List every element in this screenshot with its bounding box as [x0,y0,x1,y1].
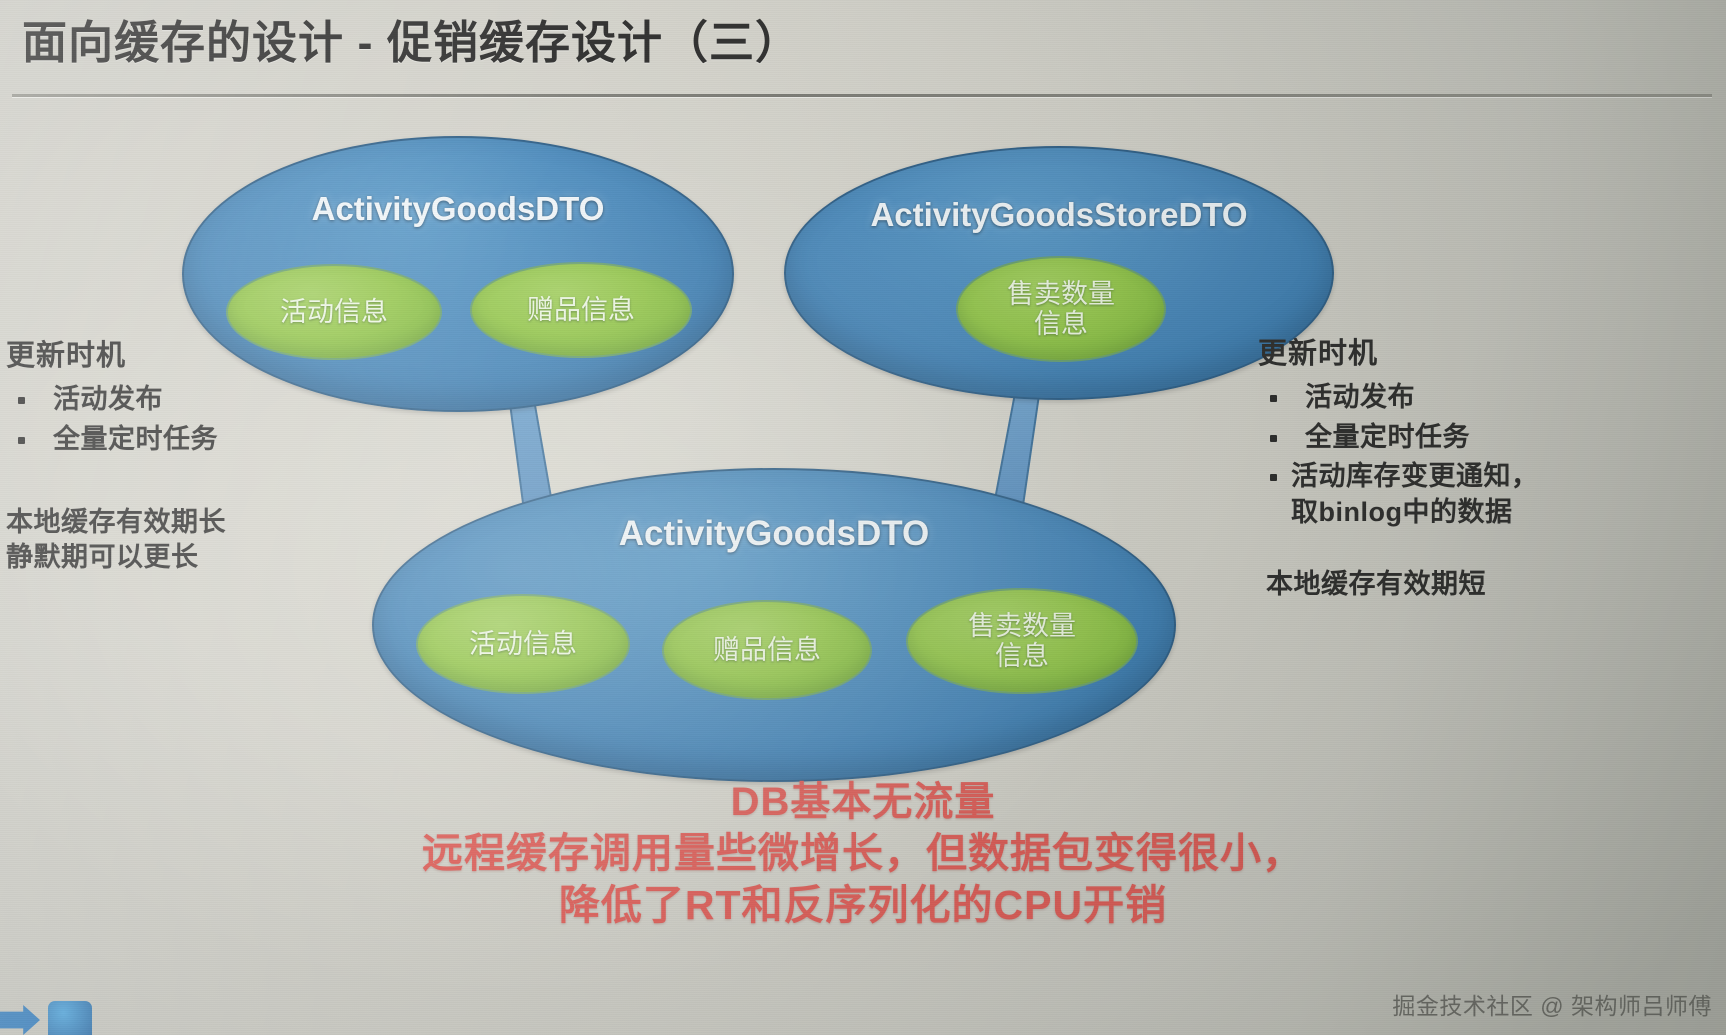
right-note: 本地缓存有效期短 [1266,567,1726,602]
leaf-gift-info[interactable]: 赠品信息 [470,262,692,358]
title-divider [12,94,1712,97]
callout-line-1: DB基本无流量 [0,778,1726,827]
watermark-label: 掘金技术社区 @ 架构师吕师傅 [1392,987,1712,1021]
right-bullet-item: 活动库存变更通知， 取binlog中的数据 [1258,459,1726,530]
corner-logo-fragment [0,991,170,1035]
node-activity-goods-store-dto[interactable]: ActivityGoodsStoreDTO 售卖数量 信息 [784,146,1334,400]
bullet-dot-icon [18,397,25,404]
left-annotation: 更新时机 活动发布 全量定时任务 本地缓存有效期长 静默期可以更长 [6,332,306,575]
bullet-dot-icon [1270,435,1277,442]
arrow-right-icon [0,1005,40,1035]
node-title: ActivityGoodsStoreDTO [786,196,1332,234]
left-annotation-heading: 更新时机 [6,332,306,374]
leaf-sell-quantity-info[interactable]: 售卖数量 信息 [906,588,1138,694]
leaf-activity-info[interactable]: 活动信息 [416,594,630,694]
leaf-gift-info[interactable]: 赠品信息 [662,600,872,700]
left-note: 本地缓存有效期长 [6,505,306,540]
left-note: 静默期可以更长 [6,540,306,575]
right-annotation: 更新时机 活动发布 全量定时任务 活动库存变更通知， 取binlog中的数据 本… [1258,330,1726,602]
right-bullet-item: 活动发布 [1258,380,1726,416]
right-annotation-heading: 更新时机 [1258,330,1726,372]
callout-line-3: 降低了RT和反序列化的CPU开销 [0,879,1726,931]
left-bullet-item: 活动发布 [6,382,306,418]
leaf-label: 活动信息 [469,629,577,659]
left-bullet-item: 全量定时任务 [6,422,306,458]
bullet-label: 活动库存变更通知， 取binlog中的数据 [1291,459,1539,530]
bullet-dot-icon [18,437,25,444]
leaf-sell-quantity-info[interactable]: 售卖数量 信息 [956,256,1166,362]
right-bullet-item: 全量定时任务 [1258,420,1726,456]
node-title: ActivityGoodsDTO [184,190,732,228]
leaf-label: 赠品信息 [713,635,821,665]
page-title: 面向缓存的设计 - 促销缓存设计（三） [22,6,801,71]
app-badge-icon [48,1001,92,1035]
slide-header: 面向缓存的设计 - 促销缓存设计（三） [0,0,1726,104]
bullet-dot-icon [1270,395,1277,402]
bullet-label: 全量定时任务 [53,422,218,458]
bullet-label: 活动发布 [1305,380,1415,416]
bullet-dot-icon [1270,474,1277,481]
leaf-label: 赠品信息 [527,295,635,325]
leaf-label: 售卖数量 信息 [1007,279,1115,339]
slide-canvas: 面向缓存的设计 - 促销缓存设计（三） ActivityGoodsDTO 活动信… [0,0,1726,1035]
leaf-label: 活动信息 [280,297,388,327]
bullet-label: 全量定时任务 [1305,420,1470,456]
leaf-label: 售卖数量 信息 [968,611,1076,671]
node-title: ActivityGoodsDTO [374,514,1174,554]
bullet-label: 活动发布 [53,382,163,418]
callout-line-2: 远程缓存调用量些微增长，但数据包变得很小， [0,827,1726,879]
node-activity-goods-dto-bottom[interactable]: ActivityGoodsDTO 活动信息 赠品信息 售卖数量 信息 [372,468,1176,782]
red-callout: DB基本无流量 远程缓存调用量些微增长，但数据包变得很小， 降低了RT和反序列化… [0,778,1726,932]
